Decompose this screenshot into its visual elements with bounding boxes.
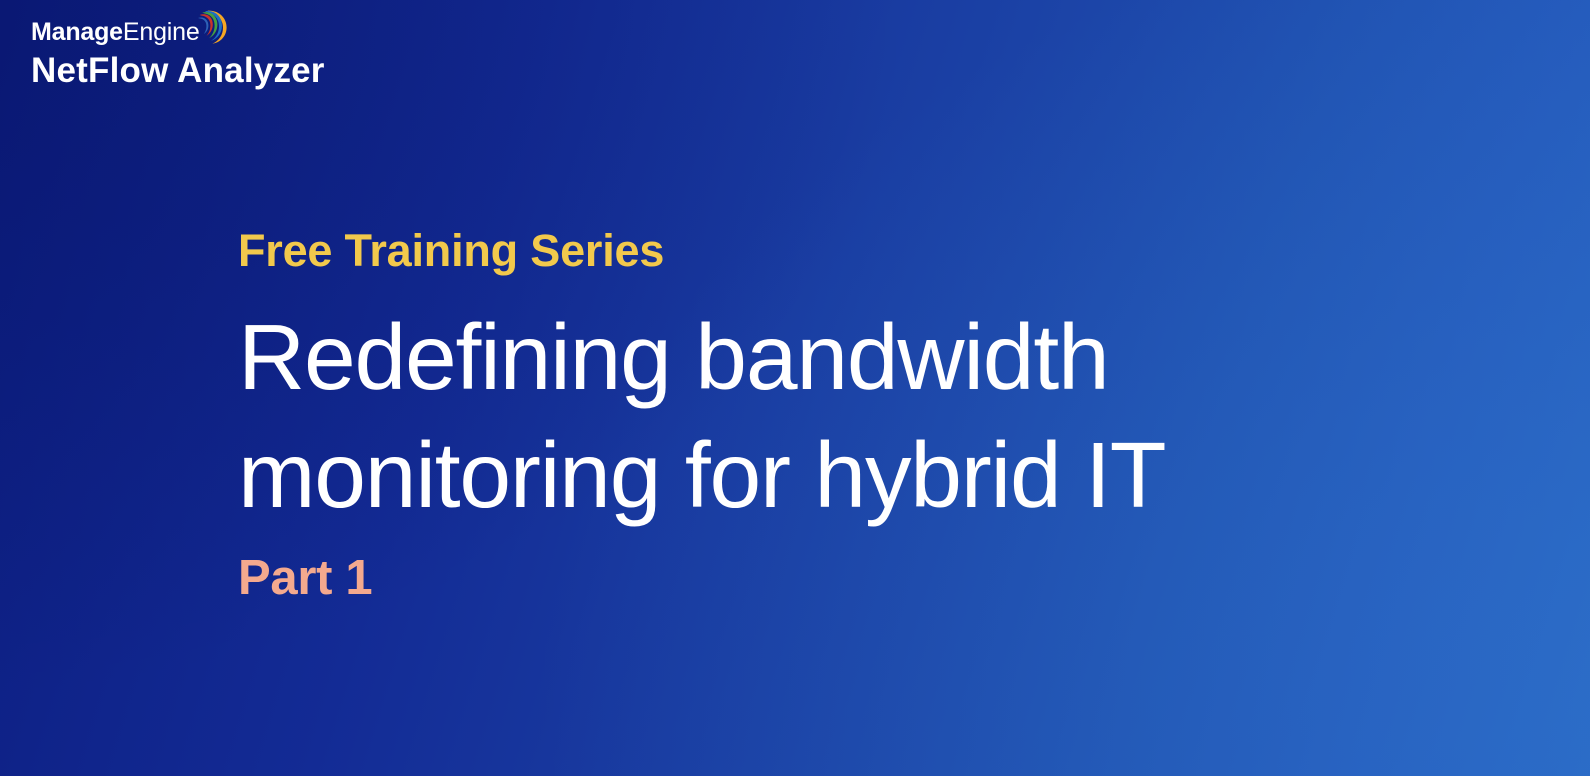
title-line-1: Redefining bandwidth — [238, 298, 1418, 416]
page-title: Redefining bandwidth monitoring for hybr… — [238, 298, 1418, 534]
brand-name-bold: Manage — [31, 17, 123, 47]
slide-content: Free Training Series Redefining bandwidt… — [238, 222, 1418, 608]
product-name: NetFlow Analyzer — [31, 50, 325, 92]
series-eyebrow: Free Training Series — [238, 222, 1418, 280]
part-label: Part 1 — [238, 548, 1418, 608]
title-line-2: monitoring for hybrid IT — [238, 416, 1418, 534]
manageengine-wordmark: Manage Engine — [31, 17, 325, 47]
brand-name-light: Engine — [123, 17, 200, 47]
title-slide: Manage Engine NetFlow Analyzer — [0, 0, 1590, 776]
manageengine-swoosh-icon — [195, 8, 229, 46]
manageengine-logo[interactable]: Manage Engine NetFlow Analyzer — [31, 17, 325, 92]
